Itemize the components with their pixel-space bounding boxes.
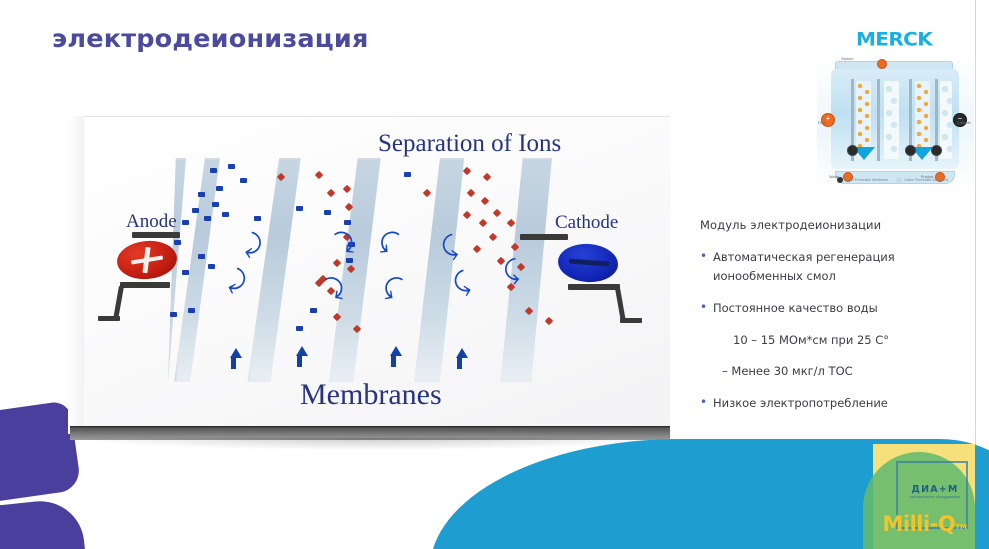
list-subitem-dash: – Менее 30 мкг/л ТОС — [722, 362, 962, 380]
diagram-platform-bevel — [68, 116, 84, 428]
ion-positive — [423, 189, 431, 197]
ion-positive — [483, 173, 491, 181]
edi-tank: + − — [831, 69, 959, 169]
cathode-minus-sign — [569, 259, 609, 267]
edi-legend-item-anion: Anion Permeable Membrane — [837, 177, 888, 183]
milliq-trademark: TM — [955, 523, 967, 531]
ion-positive — [479, 219, 487, 227]
edi-label-septum: Septum — [841, 57, 853, 61]
diagram-title: Separation of Ions — [378, 130, 561, 158]
list-item: • Постоянное качество воды — [700, 299, 962, 318]
ion-negative — [310, 308, 317, 313]
ion-negative — [204, 216, 211, 221]
ion-negative — [222, 212, 229, 217]
list-item-label: Низкое электропотребление — [713, 394, 962, 413]
flow-arrow: ⤸ — [451, 268, 472, 297]
ion-negative — [344, 220, 351, 225]
edi-separation-diagram: ⤸ ⤸ ⤸ ⤸ ⤸ ⤸ ⤸ ⤸ ⤸ — [68, 116, 670, 434]
ion-negative — [240, 178, 247, 183]
merck-logo: MERCK — [856, 28, 932, 50]
bullet-icon: • — [700, 394, 713, 411]
milliq-logo: Milli-QTM — [882, 512, 967, 536]
membrane-pointer-arrow — [296, 346, 308, 356]
ion-negative — [210, 168, 217, 173]
membrane-pointer-arrow — [230, 348, 242, 358]
diam-logo-text: ДИА+М — [907, 484, 963, 495]
ion-negative — [346, 258, 353, 263]
flow-arrow: ⤸ — [243, 231, 264, 260]
ion-negative — [216, 186, 223, 191]
edi-membrane-2 — [877, 79, 880, 161]
feature-list: Модуль электродеионизации • Автоматическ… — [700, 218, 962, 426]
milliq-logo-text: Milli-Q — [882, 512, 955, 536]
anode-wire-foot — [98, 316, 120, 321]
ion-positive — [473, 245, 481, 253]
ion-negative — [192, 208, 199, 213]
diagram-channels: ⤸ ⤸ ⤸ ⤸ ⤸ ⤸ ⤸ ⤸ ⤸ — [168, 158, 608, 382]
membrane-pointer-stem — [297, 356, 302, 367]
list-item-label: Постоянное качество воды — [713, 299, 962, 318]
list-item: • Низкое электропотребление — [700, 394, 962, 413]
ion-negative — [208, 264, 215, 269]
diagram-platform-shadow — [80, 438, 666, 450]
list-item: • Автоматическая регенерация ионообменны… — [700, 248, 962, 286]
ion-negative — [170, 312, 177, 317]
ion-negative — [188, 308, 195, 313]
page-title: электродеионизация — [52, 24, 369, 53]
ion-negative — [212, 202, 219, 207]
membrane-pointer-stem — [457, 358, 462, 369]
ion-negative — [254, 216, 261, 221]
ion-positive — [481, 197, 489, 205]
list-item-label: Автоматическая регенерация ионообменных … — [713, 248, 962, 286]
edi-legend: Anion Permeable Membrane Cation Permeabl… — [837, 172, 957, 188]
edi-legend-dot-anion — [837, 177, 843, 183]
diam-logo-subtext: лабораторное оборудование — [907, 495, 963, 499]
anode-wire-bottom — [120, 282, 170, 288]
cathode-wire-bottom — [568, 284, 620, 290]
ion-negative — [198, 254, 205, 259]
ion-negative — [198, 192, 205, 197]
ion-positive — [327, 189, 335, 197]
ion-positive — [463, 167, 471, 175]
ion-negative — [324, 210, 331, 215]
ion-positive — [493, 209, 501, 217]
edi-label-cathode: Cathode — [957, 121, 971, 125]
membrane-pointer-arrow — [456, 348, 468, 358]
ion-positive — [343, 185, 351, 193]
edi-membrane-marker-1 — [847, 145, 858, 156]
membranes-label: Membranes — [300, 378, 442, 412]
ion-negative — [182, 220, 189, 225]
edi-label-feed: Feed — [818, 121, 826, 125]
ion-positive — [467, 189, 475, 197]
ion-positive — [489, 233, 497, 241]
ion-positive — [333, 259, 341, 267]
ion-negative — [174, 240, 181, 245]
edi-legend-dot-cation — [896, 177, 902, 183]
slide-canvas: электродеионизация MERCK + − — [0, 0, 989, 549]
ion-positive — [463, 211, 471, 219]
cathode-label: Cathode — [555, 212, 618, 234]
list-subitem-value: 10 – 15 МОм*см при 25 С° — [733, 331, 962, 349]
membrane-pointer-stem — [231, 358, 236, 369]
bullet-icon: • — [700, 299, 713, 316]
flow-arrow: ⤸ — [373, 226, 402, 256]
edi-membrane-marker-3 — [931, 145, 942, 156]
decor-purple-shape-bottom — [0, 497, 88, 549]
edi-feed-terminal — [877, 59, 887, 69]
edi-concentrate-column — [940, 81, 952, 159]
flow-arrow: ⤸ — [440, 233, 460, 261]
ion-positive — [507, 219, 515, 227]
ion-negative — [404, 172, 411, 177]
cathode-wire-foot — [620, 318, 642, 323]
edi-module-schematic: + − Septum Feed Cathode Waste Product An… — [817, 55, 974, 190]
membrane-pointer-stem — [391, 356, 396, 367]
ion-negative — [296, 326, 303, 331]
flow-arrow: ⤸ — [378, 272, 406, 302]
channel-3 — [326, 158, 398, 382]
membrane-pointer-arrow — [390, 346, 402, 356]
ion-positive — [545, 317, 553, 325]
feature-list-heading: Модуль электродеионизации — [700, 218, 962, 232]
edi-membrane-marker-2 — [905, 145, 916, 156]
ion-negative — [228, 164, 235, 169]
ion-negative — [296, 206, 303, 211]
bullet-icon: • — [700, 248, 713, 265]
ion-positive — [315, 171, 323, 179]
flow-arrow: ⤸ — [503, 257, 520, 284]
edi-dilute-column — [884, 81, 899, 159]
flow-arrow: ⤸ — [226, 266, 249, 296]
cathode-wire-top — [520, 234, 568, 240]
ion-negative — [182, 270, 189, 275]
edi-legend-item-cation: Cation Permeable Membrane — [896, 177, 948, 183]
anode-label: Anode — [126, 211, 177, 233]
